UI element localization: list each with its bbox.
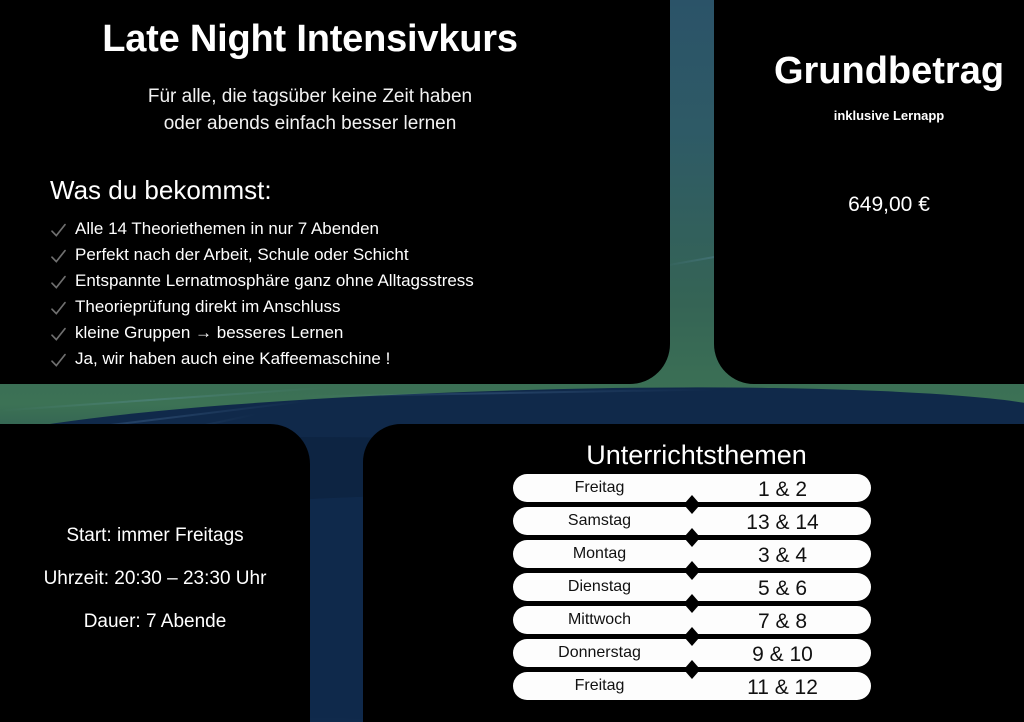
topics-heading: Unterrichtsthemen: [363, 440, 1024, 471]
benefit-label: Entspannte Lernatmosphäre ganz ohne Allt…: [75, 268, 474, 294]
benefit-label: Theorieprüfung direkt im Anschluss: [75, 294, 341, 320]
benefit-label: Ja, wir haben auch eine Kaffeemaschine !: [75, 346, 390, 372]
topic-lessons: 13 & 14: [692, 512, 871, 533]
benefit-label: Perfekt nach der Arbeit, Schule oder Sch…: [75, 242, 409, 268]
course-subtitle: Für alle, die tagsüber keine Zeit haben …: [0, 83, 620, 137]
topic-lessons: 1 & 2: [692, 479, 871, 500]
table-row: Donnerstag 9 & 10: [513, 639, 871, 667]
checkmark-icon: [50, 222, 67, 239]
topic-day: Samstag: [513, 513, 692, 529]
checkmark-icon: [50, 248, 67, 265]
price-amount: 649,00 €: [714, 193, 1024, 217]
topic-day: Mittwoch: [513, 612, 692, 628]
schedule-info-list: Start: immer Freitags Uhrzeit: 20:30 – 2…: [0, 514, 310, 643]
benefits-list: Alle 14 Theoriethemen in nur 7 Abenden P…: [50, 216, 474, 372]
price-note: inklusive Lernapp: [714, 108, 1024, 123]
benefits-heading: Was du bekommst:: [50, 175, 272, 206]
table-row: Freitag 1 & 2: [513, 474, 871, 502]
topic-day: Freitag: [513, 678, 692, 694]
list-item: Dauer: 7 Abende: [0, 600, 310, 643]
price-panel: Grundbetrag inklusive Lernapp 649,00 €: [714, 0, 1024, 384]
topic-lessons: 3 & 4: [692, 545, 871, 566]
list-item: Start: immer Freitags: [0, 514, 310, 557]
list-item: Alle 14 Theoriethemen in nur 7 Abenden: [50, 216, 474, 242]
list-item: kleine Gruppen → besseres Lernen: [50, 320, 474, 346]
topic-day: Donnerstag: [513, 645, 692, 661]
benefit-label: kleine Gruppen → besseres Lernen: [75, 320, 343, 346]
course-subtitle-line-2: oder abends einfach besser lernen: [0, 110, 620, 137]
page-title: Late Night Intensivkurs: [0, 18, 620, 61]
table-row: Freitag 11 & 12: [513, 672, 871, 700]
topic-lessons: 11 & 12: [692, 677, 871, 698]
list-item: Uhrzeit: 20:30 – 23:30 Uhr: [0, 557, 310, 600]
list-item: Ja, wir haben auch eine Kaffeemaschine !: [50, 346, 474, 372]
topics-panel: Unterrichtsthemen Freitag 1 & 2 Samstag …: [363, 424, 1024, 722]
topic-day: Montag: [513, 546, 692, 562]
topic-lessons: 7 & 8: [692, 611, 871, 632]
list-item: Entspannte Lernatmosphäre ganz ohne Allt…: [50, 268, 474, 294]
offer-panel: Late Night Intensivkurs Für alle, die ta…: [0, 0, 670, 384]
topic-day: Freitag: [513, 480, 692, 496]
checkmark-icon: [50, 300, 67, 317]
topic-lessons: 9 & 10: [692, 644, 871, 665]
topics-table: Freitag 1 & 2 Samstag 13 & 14 Montag 3 &…: [513, 474, 871, 705]
list-item: Perfekt nach der Arbeit, Schule oder Sch…: [50, 242, 474, 268]
topic-day: Dienstag: [513, 579, 692, 595]
checkmark-icon: [50, 326, 67, 343]
course-subtitle-line-1: Für alle, die tagsüber keine Zeit haben: [0, 83, 620, 110]
price-title: Grundbetrag: [714, 50, 1024, 93]
table-row: Samstag 13 & 14: [513, 507, 871, 535]
table-row: Mittwoch 7 & 8: [513, 606, 871, 634]
schedule-info-panel: Start: immer Freitags Uhrzeit: 20:30 – 2…: [0, 424, 310, 722]
topic-lessons: 5 & 6: [692, 578, 871, 599]
table-row: Dienstag 5 & 6: [513, 573, 871, 601]
table-row: Montag 3 & 4: [513, 540, 871, 568]
checkmark-icon: [50, 352, 67, 369]
poster-canvas: Late Night Intensivkurs Für alle, die ta…: [0, 0, 1024, 722]
checkmark-icon: [50, 274, 67, 291]
list-item: Theorieprüfung direkt im Anschluss: [50, 294, 474, 320]
benefit-label: Alle 14 Theoriethemen in nur 7 Abenden: [75, 216, 379, 242]
